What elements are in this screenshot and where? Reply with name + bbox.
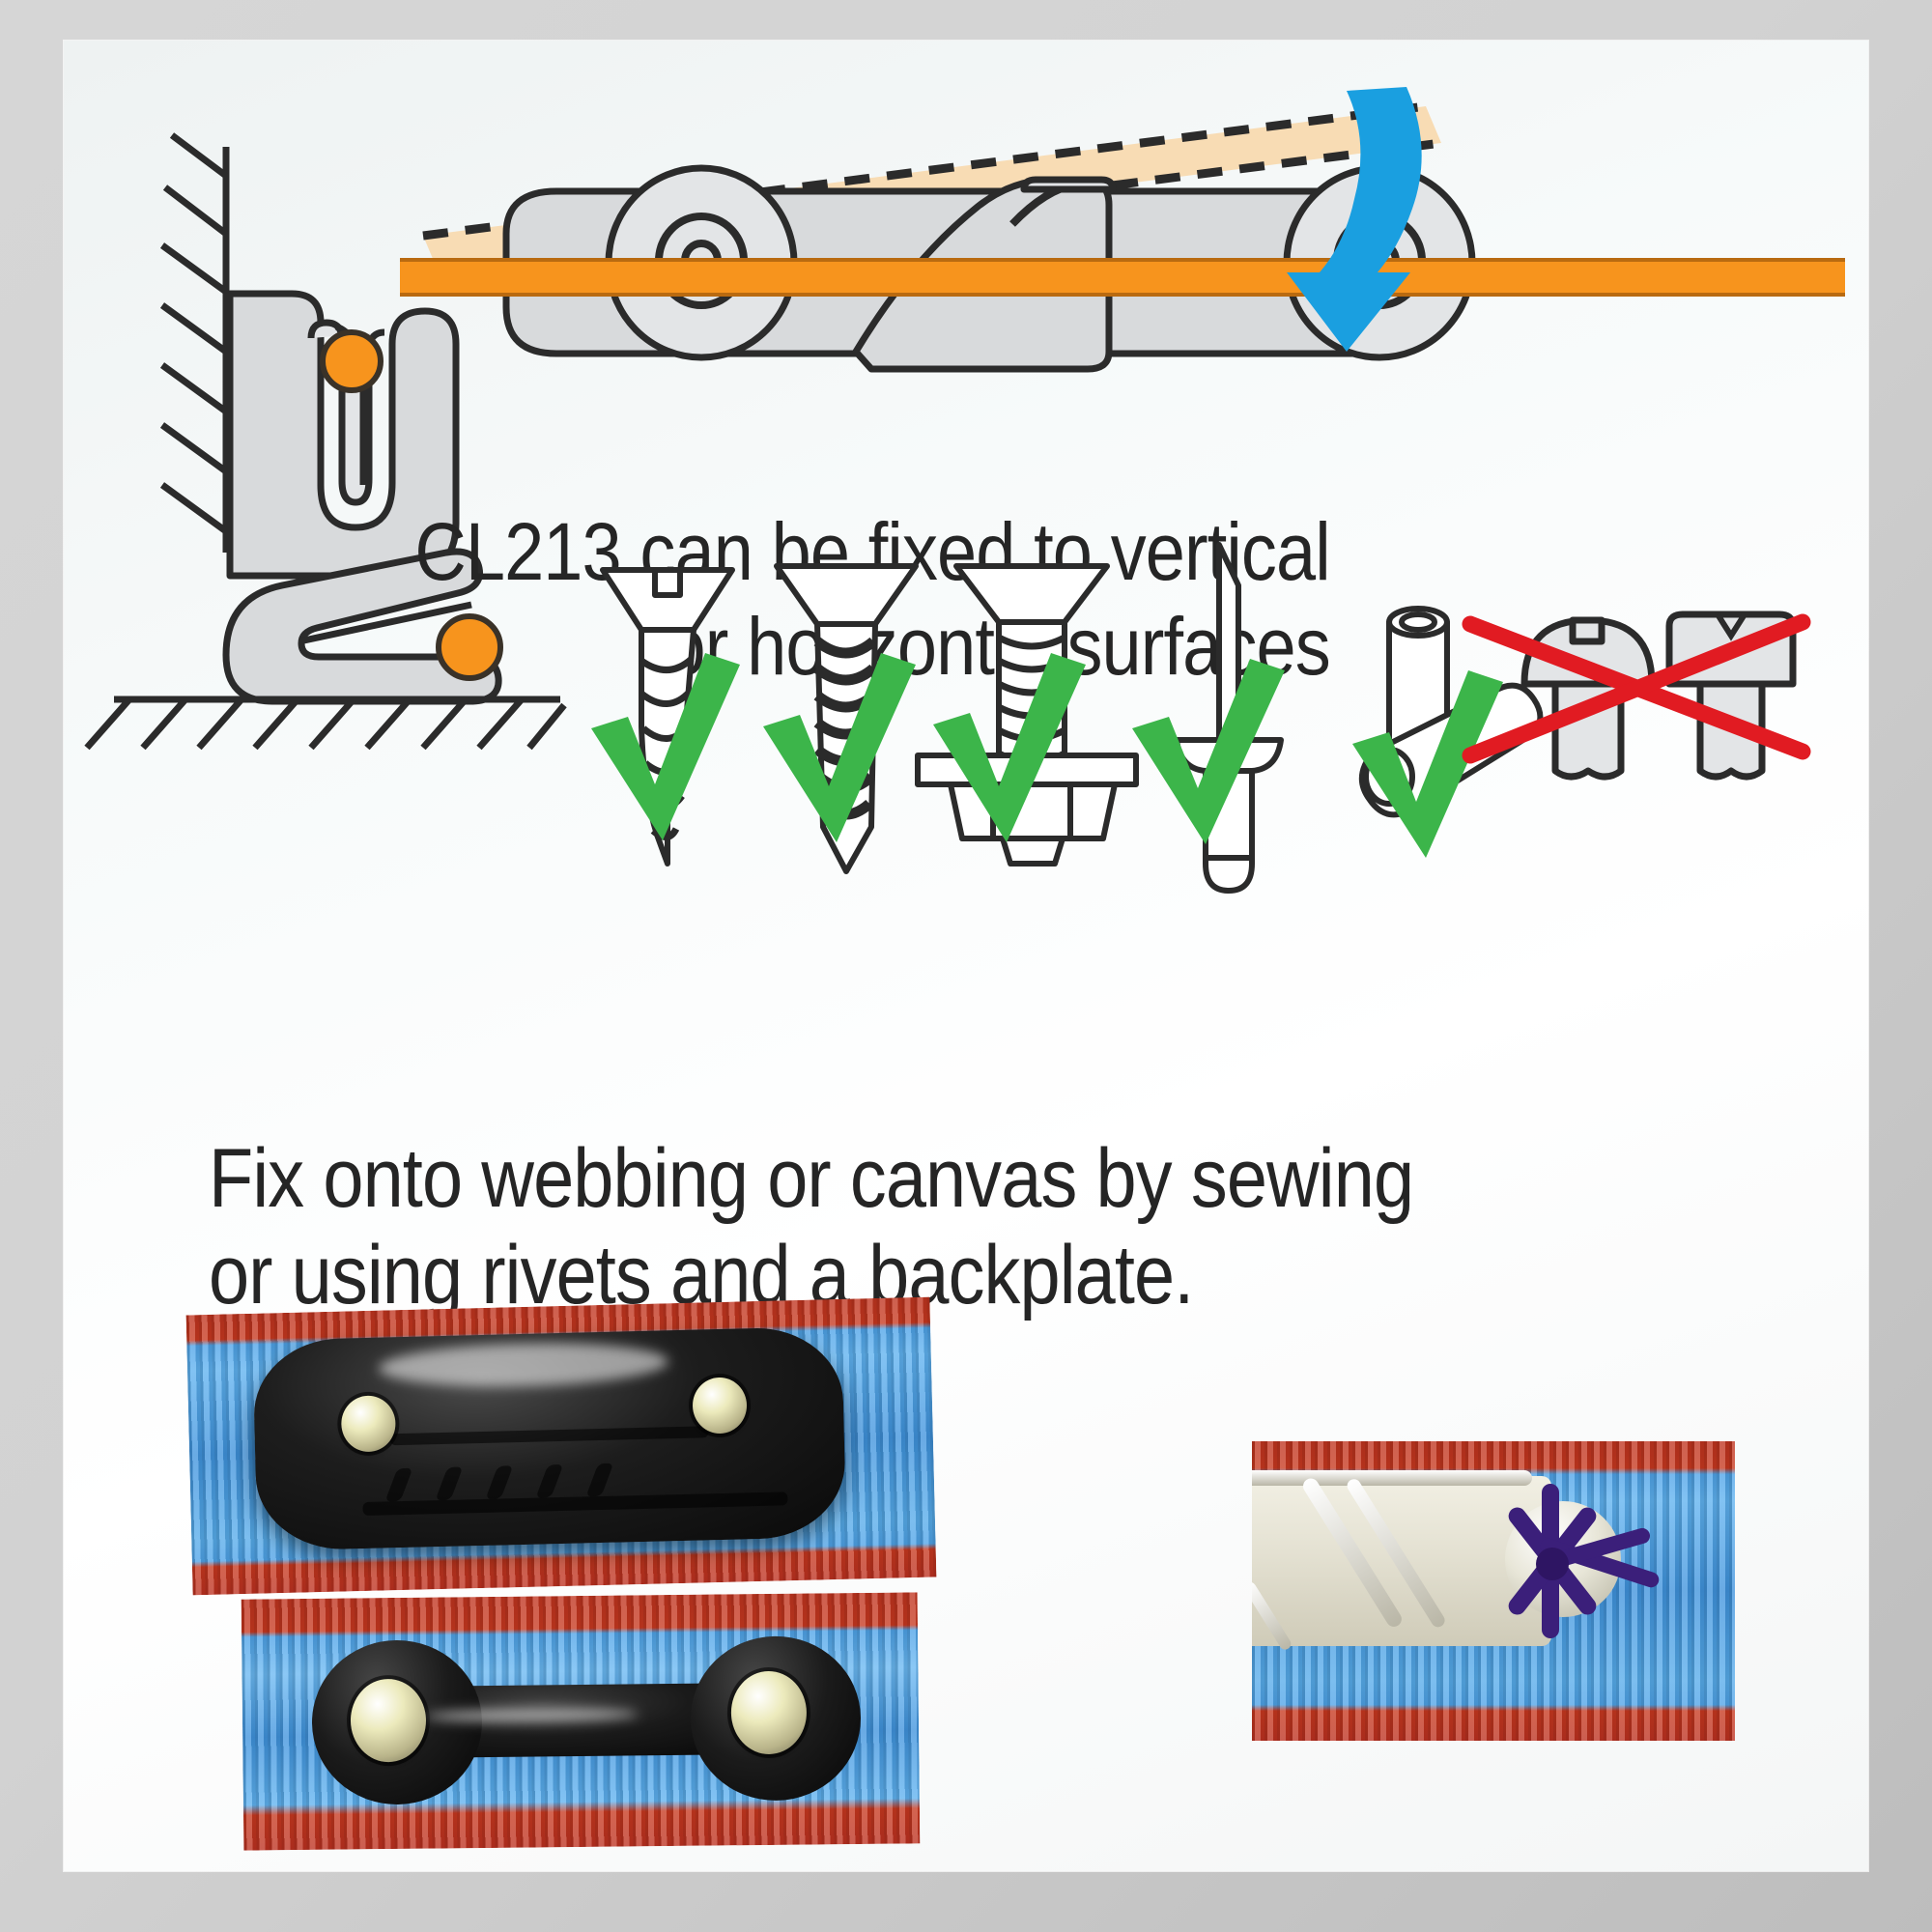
rivet-left <box>351 1679 427 1763</box>
fastener-wood-screw-countersunk <box>591 570 740 864</box>
photo-cleat-sewn-to-webbing <box>1252 1441 1735 1741</box>
fastener-compatibility-row <box>585 553 1696 958</box>
wall-hatching <box>162 135 226 531</box>
fastener-machine-screw-nut <box>918 566 1136 864</box>
callout-bottom: Fix onto webbing or canvas by sewing or … <box>209 1130 1413 1323</box>
rope-engaged <box>400 259 1845 296</box>
ground-hatching <box>87 699 564 748</box>
screenshot-root: CL213 can be fixed to vertical or horizo… <box>0 0 1932 1932</box>
rope-cross-section-dot <box>323 332 381 390</box>
photo-backplate-on-webbing <box>241 1592 921 1850</box>
fastener-self-tapping-screw <box>763 566 916 871</box>
callout-bottom-line1: Fix onto webbing or canvas by sewing <box>209 1132 1413 1225</box>
rope-cam-action-diagram <box>402 70 1851 369</box>
fastener-pop-rivet <box>1132 545 1285 891</box>
cleat-top-tab <box>1024 180 1113 189</box>
photo-cleat-riveted-to-webbing <box>186 1297 937 1596</box>
content-panel: CL213 can be fixed to vertical or horizo… <box>64 41 1868 1871</box>
stitch-hub <box>1536 1548 1569 1580</box>
black-cleat <box>252 1326 846 1551</box>
rivet-right <box>730 1671 807 1755</box>
